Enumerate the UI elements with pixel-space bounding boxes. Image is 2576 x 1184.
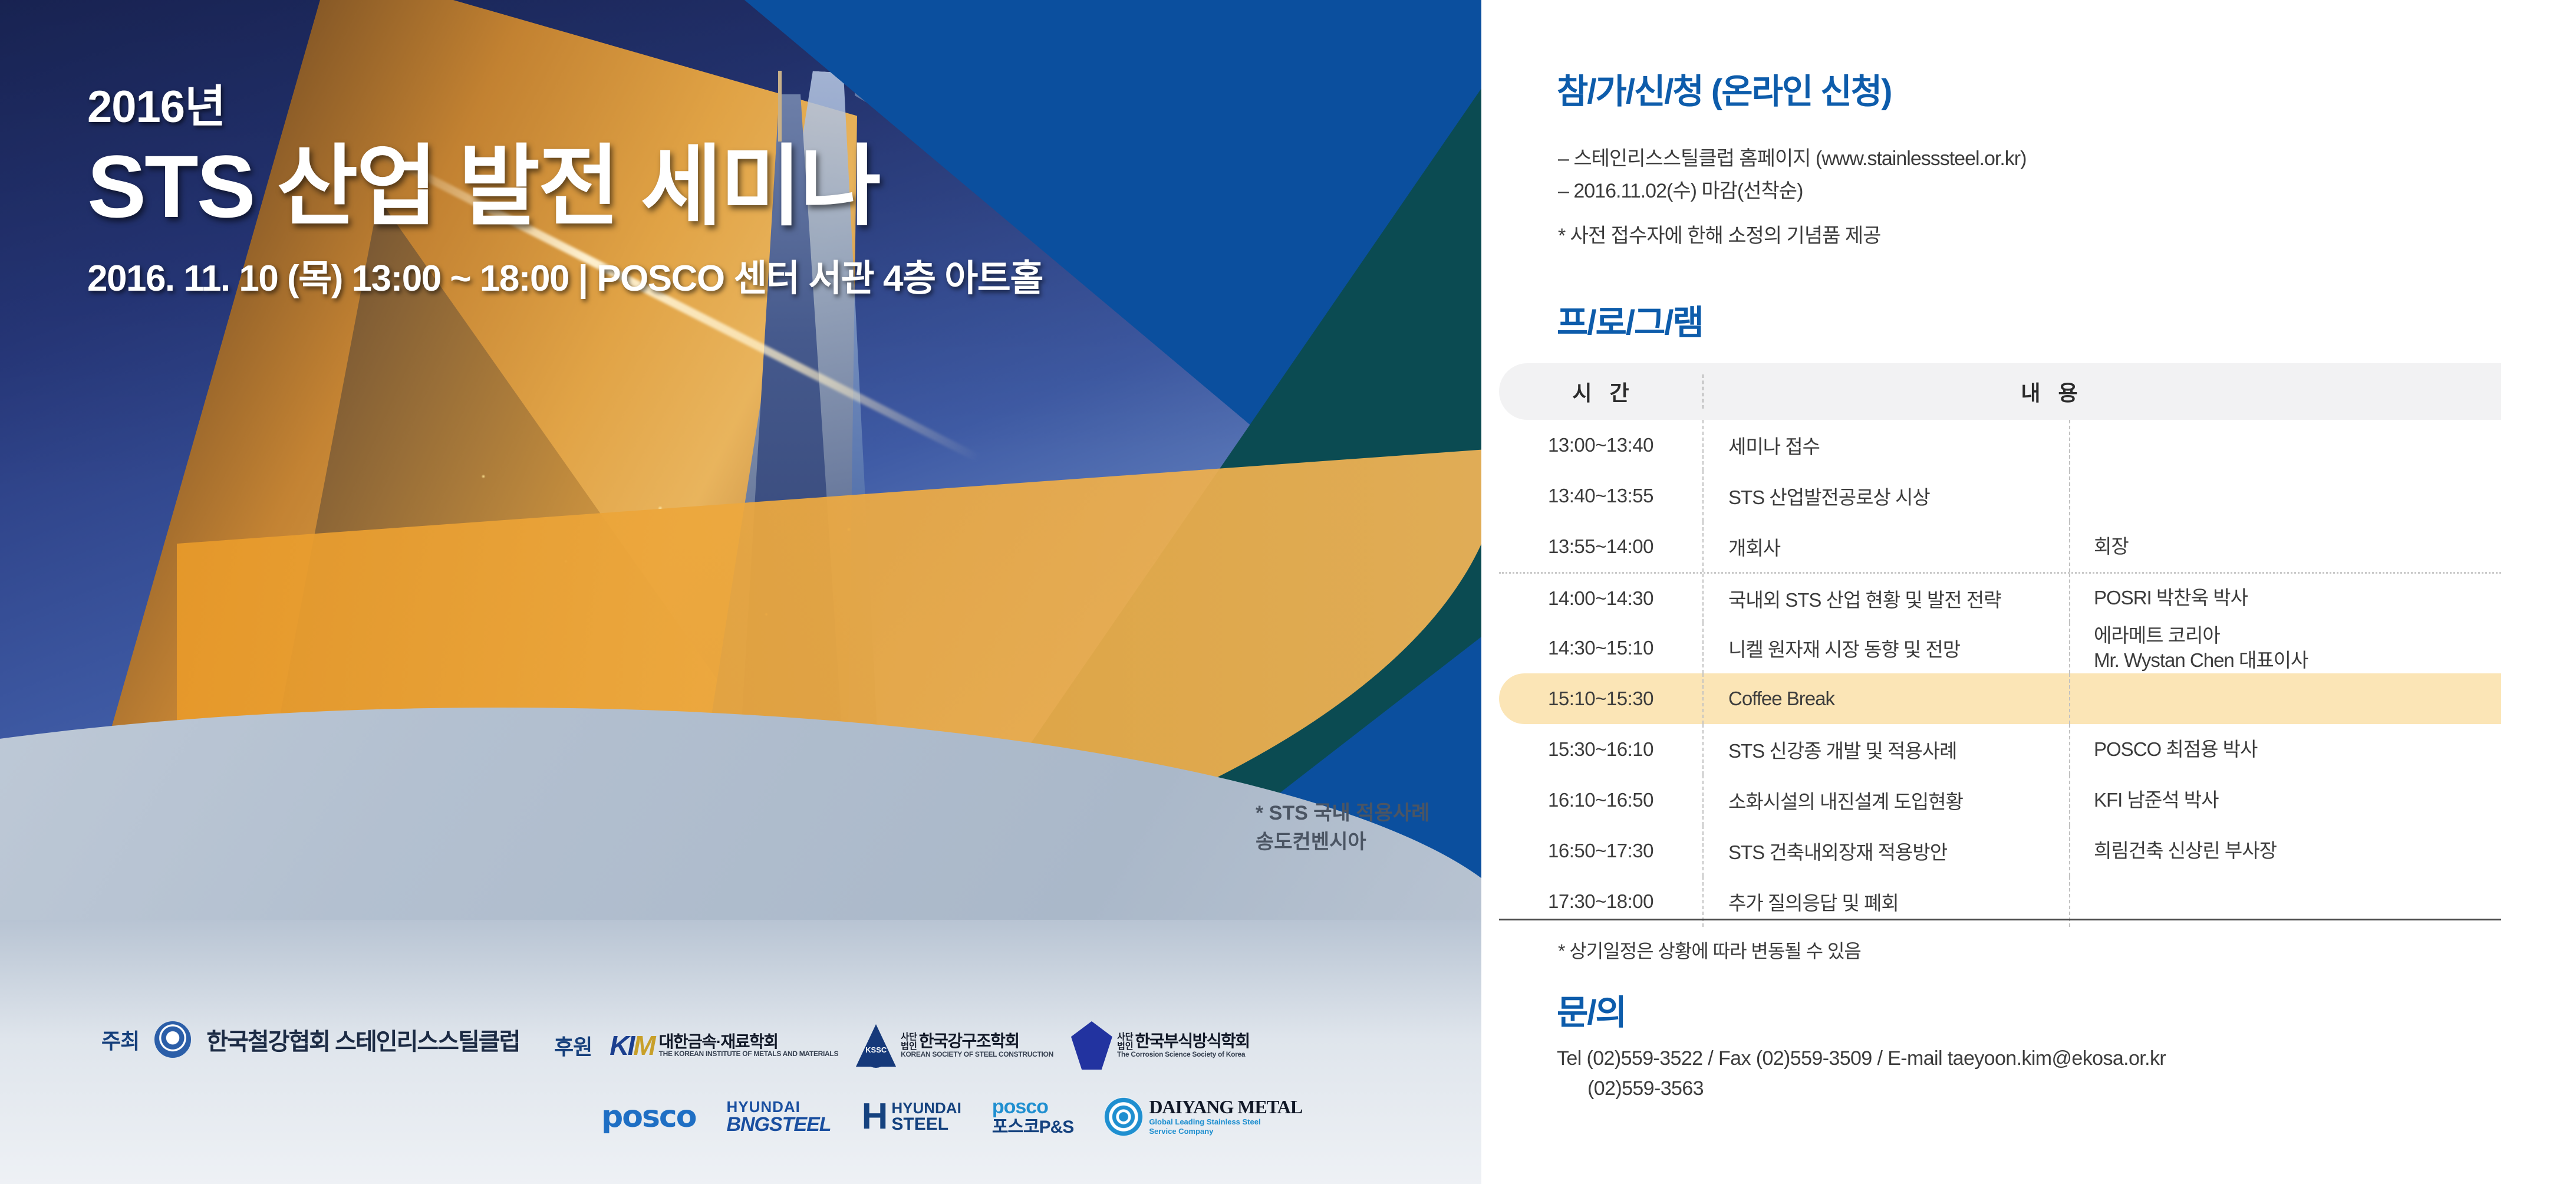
kim-name-ko: 대한금속·재료학회 (659, 1033, 839, 1050)
bng-top-text: HYUNDAI (726, 1099, 831, 1114)
cell-speaker (2070, 471, 2501, 521)
table-row: 13:55~14:00개회사회장 (1499, 521, 2501, 572)
apply-line-deadline: – 2016.11.02(수) 마감(선착순) (1558, 175, 2026, 208)
kssc-name-ko: 한국강구조학회 (919, 1032, 1019, 1050)
cell-speaker: 희림건축 신상린 부사장 (2070, 825, 2501, 876)
apply-heading: 참/가/신/청 (온라인 신청) (1557, 64, 1891, 113)
cell-speaker: 에라메트 코리아 Mr. Wystan Chen 대표이사 (2070, 623, 2501, 673)
apply-line-homepage: – 스테인리스스틸클럽 홈페이지 (www.stainlesssteel.or.… (1558, 143, 2026, 175)
cell-time: 14:30~15:10 (1499, 623, 1702, 673)
corrosion-name-en: The Corrosion Science Society of Korea (1117, 1051, 1250, 1058)
kssc-name-en: KOREAN SOCIETY OF STEEL CONSTRUCTION (901, 1051, 1053, 1058)
cell-speaker: POSRI 박찬욱 박사 (2070, 574, 2501, 623)
supporter-row: 후원 KIM 대한금속·재료학회 THE KOREAN INSTITUTE OF… (554, 1021, 1250, 1070)
table-row: 13:40~13:55STS 산업발전공로상 시상 (1499, 471, 2501, 521)
poster-title-block: 2016년 STS 산업 발전 세미나 2016. 11. 10 (목) 13:… (87, 83, 1266, 301)
column-header-content: 내 용 (1704, 376, 2501, 407)
cell-speaker: KFI 남준석 박사 (2070, 775, 2501, 825)
table-row: 16:10~16:50소화시설의 내진설계 도입현황KFI 남준석 박사 (1499, 775, 2501, 825)
logo-bng-steel: HYUNDAI BNGSTEEL (726, 1099, 831, 1134)
cell-speaker-text: KFI 남준석 박사 (2094, 788, 2218, 813)
kssc-prefix-2: 법인 (901, 1041, 917, 1051)
column-header-time: 시 간 (1499, 376, 1702, 407)
corrosion-diamond-icon (1071, 1021, 1112, 1070)
logo-corrosion-society: 사단 법인 한국부식방식학회 The Corrosion Science Soc… (1071, 1021, 1250, 1070)
photo-caption-line-2: 송도컨벤시아 (1256, 828, 1429, 857)
logo-daiyang-metal: DAIYANG METAL Global Leading Stainless S… (1104, 1097, 1302, 1137)
table-row: 14:30~15:10니켈 원자재 시장 동향 및 전망에라메트 코리아 Mr.… (1499, 623, 2501, 673)
sponsor-section: 주최 한국철강협회 스테인리스스틸클럽 후원 KIM 대한금속·재료학회 THE… (0, 1014, 1481, 1184)
corrosion-name-ko: 한국부식방식학회 (1135, 1032, 1250, 1050)
daiyang-sub-2: Service Company (1149, 1127, 1302, 1136)
cell-speaker (2070, 673, 2501, 724)
cell-time: 13:55~14:00 (1499, 521, 1702, 572)
poster-root: 2016년 STS 산업 발전 세미나 2016. 11. 10 (목) 13:… (0, 0, 2576, 1184)
hyundai-steel-top-text: HYUNDAI (891, 1100, 961, 1116)
cell-speaker-text: 에라메트 코리아 Mr. Wystan Chen 대표이사 (2094, 623, 2308, 673)
table-row: 15:30~16:10STS 신강종 개발 및 적용사례POSCO 최점용 박사 (1499, 724, 2501, 775)
table-row: 15:10~15:30Coffee Break (1499, 673, 2501, 724)
cell-content: Coffee Break (1704, 673, 2069, 724)
cell-time: 15:30~16:10 (1499, 724, 1702, 775)
event-year: 2016년 (87, 83, 1266, 132)
kssc-prefix-1: 사단 (901, 1032, 917, 1042)
program-table-header: 시 간 내 용 (1499, 363, 2501, 420)
hyundai-h-icon: H (862, 1102, 888, 1132)
event-datetime-venue: 2016. 11. 10 (목) 13:00 ~ 18:00 | POSCO 센… (87, 248, 1266, 301)
logo-kim: KIM 대한금속·재료학회 THE KOREAN INSTITUTE OF ME… (610, 1030, 838, 1061)
program-table-bottom-rule (1499, 919, 2501, 920)
photo-caption: * STS 국내 적용사례 송도컨벤시아 (1256, 799, 1429, 857)
program-note: * 상기일정은 상황에 따라 변동될 수 있음 (1558, 936, 1861, 963)
posco-pns-bottom-text: 포스코P&S (992, 1118, 1074, 1137)
cell-speaker-text: POSCO 최점용 박사 (2094, 737, 2257, 762)
apply-lines: – 스테인리스스틸클럽 홈페이지 (www.stainlesssteel.or.… (1558, 143, 2026, 208)
contact-heading: 문/의 (1557, 985, 1626, 1034)
photo-caption-line-1: * STS 국내 적용사례 (1256, 799, 1429, 828)
table-row: 14:00~14:30국내외 STS 산업 현황 및 발전 전략POSRI 박찬… (1499, 572, 2501, 623)
cell-content: 세미나 접수 (1704, 420, 2069, 471)
daiyang-sub-1: Global Leading Stainless Steel (1149, 1117, 1302, 1127)
logo-posco: posco (601, 1099, 696, 1134)
daiyang-target-icon (1104, 1097, 1143, 1136)
program-heading: 프/로/그/램 (1557, 295, 1703, 344)
contact-line-primary: Tel (02)559-3522 / Fax (02)559-3509 / E-… (1557, 1044, 2166, 1074)
hyundai-steel-bottom-text: STEEL (891, 1116, 961, 1133)
cell-time: 13:40~13:55 (1499, 471, 1702, 521)
cell-time: 14:00~14:30 (1499, 574, 1702, 623)
corrosion-prefix-2: 법인 (1117, 1041, 1134, 1051)
program-table: 시 간 내 용 13:00~13:40세미나 접수13:40~13:55STS … (1499, 363, 2501, 927)
cell-time: 16:10~16:50 (1499, 775, 1702, 825)
kssc-mark-text: KSSC (863, 1045, 889, 1054)
kisa-emblem-icon (154, 1021, 191, 1058)
kssc-triangle-icon: KSSC (856, 1024, 896, 1067)
cell-speaker: 회장 (2070, 521, 2501, 572)
kim-name-en: THE KOREAN INSTITUTE OF METALS AND MATER… (659, 1050, 839, 1058)
kim-mark-icon: KIM (610, 1030, 654, 1061)
cell-content: 국내외 STS 산업 현황 및 발전 전략 (1704, 574, 2069, 623)
cell-content: STS 신강종 개발 및 적용사례 (1704, 724, 2069, 775)
cell-content: 소화시설의 내진설계 도입현황 (1704, 775, 2069, 825)
cell-speaker-text: 희림건축 신상린 부사장 (2094, 838, 2277, 863)
host-label: 주최 (101, 1024, 139, 1055)
right-info-panel: 참/가/신/청 (온라인 신청) – 스테인리스스틸클럽 홈페이지 (www.s… (1481, 0, 2576, 1184)
daiyang-name: DAIYANG METAL (1149, 1097, 1302, 1117)
cell-speaker (2070, 420, 2501, 471)
apply-note: * 사전 접수자에 한해 소정의 기념품 제공 (1558, 219, 1880, 248)
host-organization-name: 한국철강협회 스테인리스스틸클럽 (206, 1022, 519, 1057)
cell-content: 니켈 원자재 시장 동향 및 전망 (1704, 623, 2069, 673)
corrosion-prefix: 사단 법인 (1117, 1032, 1134, 1051)
cell-time: 15:10~15:30 (1499, 673, 1702, 724)
contact-line-secondary: (02)559-3563 (1557, 1074, 2166, 1104)
posco-pns-top-text: posco (992, 1097, 1074, 1118)
supporter-label: 후원 (554, 1030, 592, 1061)
cell-time: 16:50~17:30 (1499, 825, 1702, 876)
logo-hyundai-steel: H HYUNDAI STEEL (862, 1100, 961, 1133)
logo-posco-pns: posco 포스코P&S (992, 1097, 1074, 1136)
bng-bottom-text: BNGSTEEL (726, 1114, 831, 1134)
logo-kssc: KSSC 사단 법인 한국강구조학회 KOREAN SOCIETY OF STE… (856, 1024, 1053, 1067)
program-table-rows: 13:00~13:40세미나 접수13:40~13:55STS 산업발전공로상 … (1499, 420, 2501, 927)
cell-time: 13:00~13:40 (1499, 420, 1702, 471)
kssc-prefix: 사단 법인 (901, 1032, 917, 1051)
table-row: 16:50~17:30STS 건축내외장재 적용방안희림건축 신상린 부사장 (1499, 825, 2501, 876)
contact-lines: Tel (02)559-3522 / Fax (02)559-3509 / E-… (1557, 1044, 2166, 1104)
host-row: 주최 한국철강협회 스테인리스스틸클럽 (101, 1021, 519, 1058)
company-logo-row: posco HYUNDAI BNGSTEEL H HYUNDAI STEEL p… (601, 1097, 1302, 1137)
cell-content: 개회사 (1704, 521, 2069, 572)
cell-speaker-text: POSRI 박찬욱 박사 (2094, 586, 2248, 610)
table-row: 13:00~13:40세미나 접수 (1499, 420, 2501, 471)
event-title: STS 산업 발전 세미나 (87, 140, 1266, 233)
cell-content: STS 건축내외장재 적용방안 (1704, 825, 2069, 876)
cell-speaker-text: 회장 (2094, 534, 2129, 559)
cell-speaker: POSCO 최점용 박사 (2070, 724, 2501, 775)
left-visual-panel: 2016년 STS 산업 발전 세미나 2016. 11. 10 (목) 13:… (0, 0, 1481, 1184)
cell-content: STS 산업발전공로상 시상 (1704, 471, 2069, 521)
corrosion-prefix-1: 사단 (1117, 1032, 1134, 1042)
